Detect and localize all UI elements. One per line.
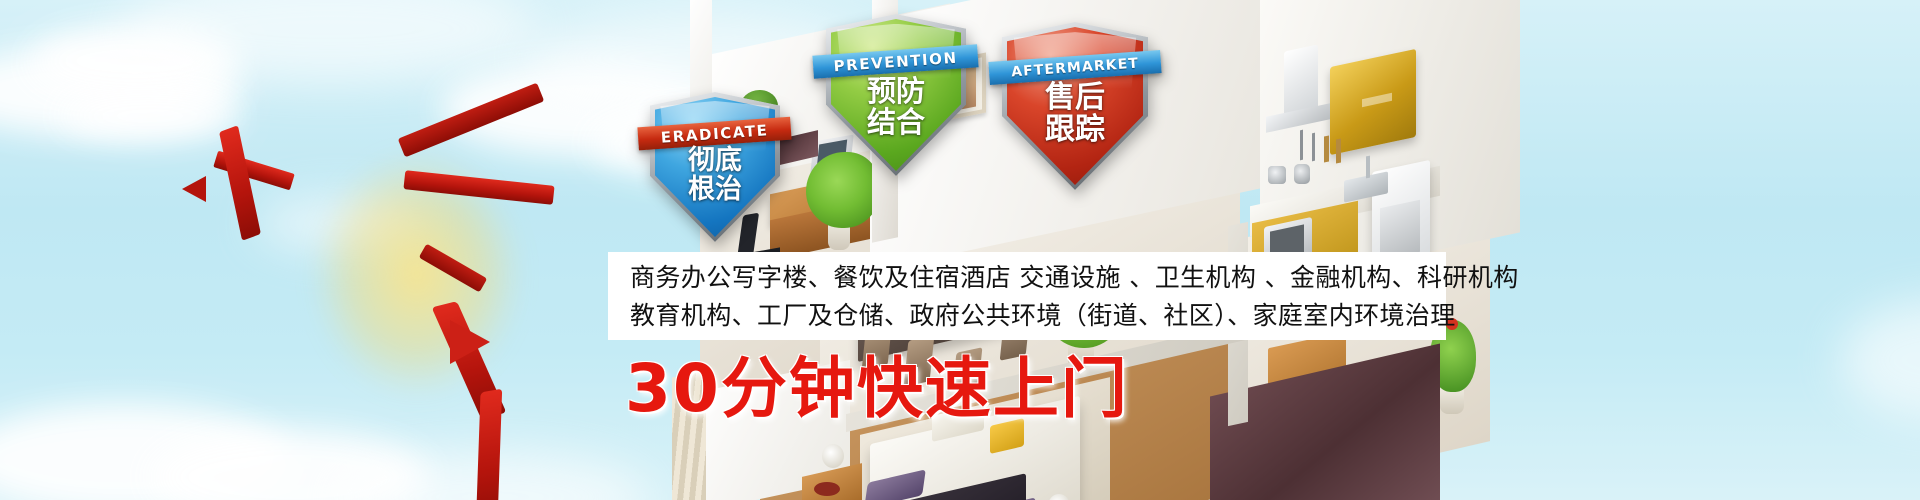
ribbon-arrow-lower — [450, 320, 490, 364]
badge-chinese-text: 售后 跟踪 — [1002, 82, 1148, 146]
badge-chinese-line2: 跟踪 — [1002, 114, 1148, 146]
badge-chinese-text: 彻底 根治 — [650, 147, 780, 204]
badge-chinese-line2: 根治 — [650, 176, 780, 205]
badge-chinese-line2: 结合 — [826, 107, 966, 138]
service-scope-line-1: 商务办公写字楼、餐饮及住宿酒店 交通设施 、卫生机构 、金融机构、科研机构 — [630, 259, 1446, 297]
golden-number-three: 3 — [232, 74, 592, 474]
badge-prevention[interactable]: PREVENTION 预防 结合 — [826, 14, 966, 176]
promotional-banner: 3 ERADICATE 彻底 根治 — [0, 0, 1920, 500]
badge-chinese-text: 预防 结合 — [826, 76, 966, 137]
badge-aftermarket[interactable]: AFTERMARKET 售后 跟踪 — [1002, 22, 1148, 190]
ribbon-arrow-left — [182, 176, 206, 202]
badge-chinese-line1: 彻底 — [650, 147, 780, 176]
badge-eradicate[interactable]: ERADICATE 彻底 根治 — [650, 92, 780, 242]
service-scope-panel: 商务办公写字楼、餐饮及住宿酒店 交通设施 、卫生机构 、金融机构、科研机构 教育… — [608, 252, 1446, 340]
three-digit-glyph: 3 — [232, 50, 592, 470]
badge-chinese-line1: 预防 — [826, 76, 966, 107]
service-scope-line-2: 教育机构、工厂及仓储、政府公共环境（街道、社区）、家庭室内环境治理 — [630, 297, 1446, 335]
badge-chinese-line1: 售后 — [1002, 82, 1148, 114]
headline-30-minute-service: 30分钟快速上门 — [625, 352, 1129, 426]
ribbon-tail-bottom — [476, 389, 502, 500]
